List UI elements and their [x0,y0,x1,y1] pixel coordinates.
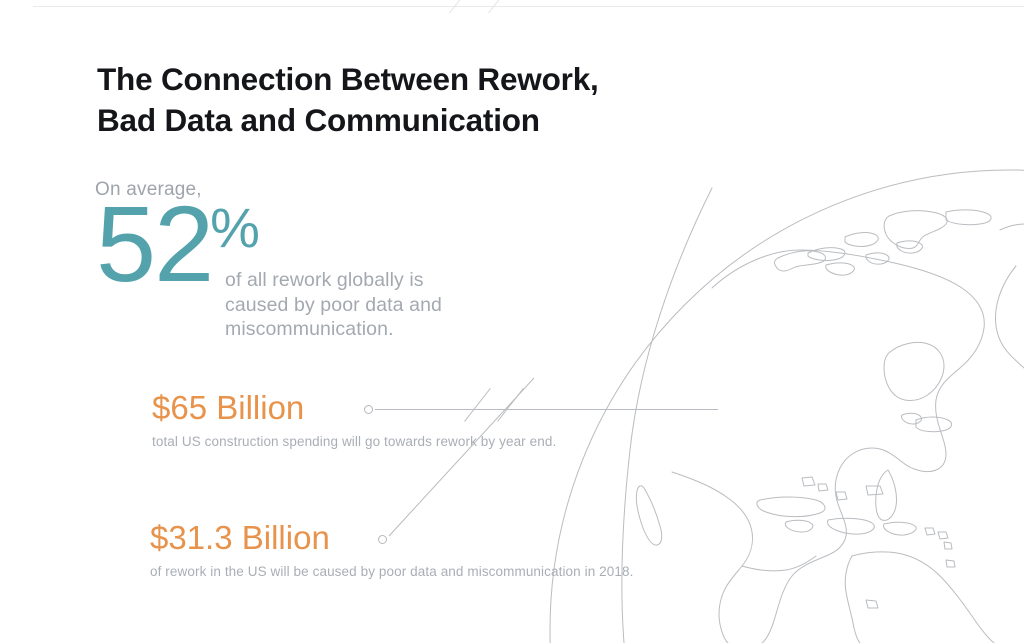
primary-stat-description: of all rework globally is caused by poor… [225,268,475,342]
callout-31-3-amount: $31.3 Billion [150,518,633,558]
content-layer: The Connection Between Rework, Bad Data … [0,0,1024,643]
infographic-canvas: The Connection Between Rework, Bad Data … [0,0,1024,643]
primary-stat-unit: % [210,200,260,256]
callout-31-3-description: of rework in the US will be caused by po… [150,563,633,581]
primary-stat-value: 52 [96,196,212,292]
callout-65-leader-line [375,409,718,410]
callout-31-3-connector-dot [378,535,387,544]
callout-65-description: total US construction spending will go t… [152,433,556,451]
callout-65-connector-dot [364,405,373,414]
callout-31-3-billion: $31.3 Billion of rework in the US will b… [150,518,633,581]
page-title-line-2: Bad Data and Communication [97,100,737,141]
page-title-line-1: The Connection Between Rework, [97,61,599,97]
callout-65-amount: $65 Billion [152,388,556,428]
callout-65-billion: $65 Billion total US construction spendi… [152,388,556,451]
page-title: The Connection Between Rework, Bad Data … [97,59,737,141]
